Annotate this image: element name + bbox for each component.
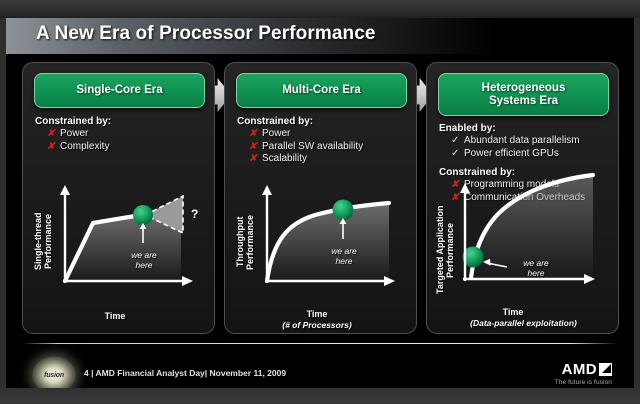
- title-band: A New Era of Processor Performance: [6, 18, 634, 54]
- chart-3-x-axis-label: Time: [443, 307, 583, 317]
- bullet-label: Power: [60, 128, 88, 141]
- x-icon: ✘: [47, 141, 60, 154]
- check-icon: ✓: [451, 148, 464, 161]
- panel-2-bullets: Constrained by: ✘ Power ✘ Parallel SW av…: [237, 116, 363, 166]
- chart-1-y-axis-label: Single-thread Performance: [33, 189, 53, 293]
- panel-1-bullets: Constrained by: ✘ Power ✘ Complexity: [35, 116, 111, 153]
- chart-3-annotation: we are here: [507, 259, 565, 278]
- panel-3-chip: Heterogeneous Systems Era: [438, 73, 609, 116]
- x-icon: ✘: [249, 128, 262, 141]
- footer-meta: 4 | AMD Financial Analyst Day| November …: [84, 368, 286, 378]
- panel-heterogeneous-systems-era: Heterogeneous Systems Era Enabled by: ✓ …: [426, 62, 619, 334]
- x-icon: ✘: [47, 128, 60, 141]
- chart-1-plot: [31, 171, 208, 311]
- chart-1-annotation: we are here: [115, 251, 173, 270]
- chart-throughput-performance: Throughput Performance: [233, 171, 410, 321]
- panel-3-chip-label: Heterogeneous Systems Era: [482, 82, 566, 108]
- amd-wordmark: AMD: [562, 362, 597, 377]
- panel-3-block-0-heading: Enabled by:: [439, 123, 585, 134]
- chart-2-x-axis-sublabel: (# of Processors): [241, 320, 393, 330]
- bullet-label: Power efficient GPUs: [464, 148, 559, 161]
- chart-single-thread-performance: Single-thread Performance: [31, 171, 208, 321]
- chart-targeted-application-performance: Targeted Application Performance: [435, 199, 612, 329]
- spacer: [439, 160, 585, 167]
- bullet-label: Scalability: [262, 153, 307, 166]
- chart-3-y-axis-label: Targeted Application Performance: [435, 191, 455, 309]
- amd-logo: AMD The future is fusion: [555, 362, 612, 386]
- panel-1-chip-label: Single-Core Era: [76, 84, 162, 97]
- bullet-label: Complexity: [60, 141, 109, 154]
- chart-2-x-axis-label: Time: [247, 309, 387, 319]
- page-title: A New Era of Processor Performance: [36, 23, 376, 45]
- chart-2-y-axis-label: Throughput Performance: [235, 193, 255, 291]
- bullet-row: ✘ Parallel SW availability: [249, 141, 363, 154]
- x-icon: ✘: [249, 141, 262, 154]
- bullet-row: ✘ Power: [249, 128, 363, 141]
- chart-2-plot: [233, 171, 410, 311]
- bullet-row: ✓ Power efficient GPUs: [451, 148, 585, 161]
- chart-3-x-axis-sublabel: (Data-parallel exploitation): [435, 318, 612, 328]
- slide-screenshot: A New Era of Processor Performance Singl…: [0, 0, 640, 404]
- slide-canvas: A New Era of Processor Performance Singl…: [6, 18, 634, 388]
- bullet-label: Abundant data parallelism: [464, 135, 580, 148]
- panel-2-block-0-heading: Constrained by:: [237, 116, 363, 127]
- chart-1-question-mark: ?: [191, 207, 198, 221]
- bullet-label: Parallel SW availability: [262, 141, 363, 154]
- bullet-row: ✘ Scalability: [249, 153, 363, 166]
- window-top-band: [0, 0, 640, 18]
- panel-2-chip-label: Multi-Core Era: [282, 84, 361, 97]
- panel-2-chip: Multi-Core Era: [236, 73, 407, 108]
- fusion-logo-label: fusion: [44, 372, 64, 379]
- footer-divider: [22, 343, 618, 344]
- panel-1-block-0-heading: Constrained by:: [35, 116, 111, 127]
- bullet-row: ✘ Complexity: [47, 141, 111, 154]
- panel-1-chip: Single-Core Era: [34, 73, 205, 108]
- chart-2-annotation: we are here: [315, 247, 373, 266]
- amd-tagline: The future is fusion: [555, 379, 612, 386]
- amd-logo-row: AMD: [555, 362, 612, 377]
- window-bottom-band: [0, 388, 640, 404]
- x-icon: ✘: [249, 153, 262, 166]
- fusion-logo: fusion: [32, 356, 76, 388]
- bullet-label: Power: [262, 128, 290, 141]
- amd-arrow-icon: [599, 363, 612, 376]
- panel-multi-core-era: Multi-Core Era Constrained by: ✘ Power ✘…: [224, 62, 417, 334]
- panel-single-core-era: Single-Core Era Constrained by: ✘ Power …: [22, 62, 215, 334]
- bullet-row: ✓ Abundant data parallelism: [451, 135, 585, 148]
- bullet-row: ✘ Power: [47, 128, 111, 141]
- chart-1-x-axis-label: Time: [45, 311, 185, 321]
- check-icon: ✓: [451, 135, 464, 148]
